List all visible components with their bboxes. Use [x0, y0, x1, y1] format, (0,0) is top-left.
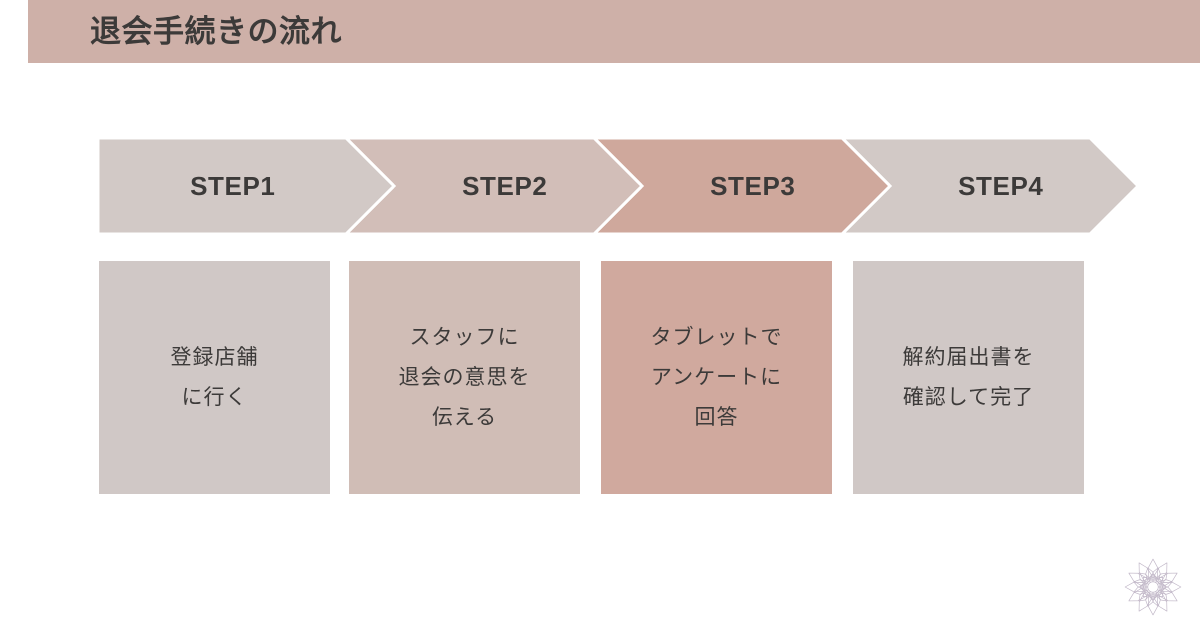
step-description-line: スタッフに — [410, 318, 520, 358]
step-description-line: 伝える — [432, 398, 497, 438]
step-description-line: アンケートに — [651, 358, 782, 398]
step-arrow-label-1: STEP1 — [98, 138, 368, 234]
step-arrow-label-4: STEP4 — [890, 138, 1112, 234]
step-description-line: に行く — [182, 378, 248, 418]
step-description-line: 退会の意思を — [399, 358, 531, 398]
step-arrow-row: STEP1STEP2STEP3STEP4 — [0, 138, 1200, 234]
step-arrow-label-3: STEP3 — [642, 138, 864, 234]
step-description-box-3[interactable]: タブレットでアンケートに回答 — [601, 261, 832, 494]
step-description-box-2[interactable]: スタッフに退会の意思を伝える — [349, 261, 580, 494]
page-title: 退会手続きの流れ — [90, 0, 342, 63]
step-description-line: 解約届出書を — [903, 338, 1035, 378]
step-arrow-1[interactable]: STEP1 — [98, 138, 394, 234]
step-description-line: 確認して完了 — [903, 378, 1034, 418]
step-description-line: 回答 — [695, 398, 739, 438]
lotus-mandala-logo-icon — [1122, 556, 1184, 618]
step-description-box-4[interactable]: 解約届出書を確認して完了 — [853, 261, 1084, 494]
step-description-line: タブレットで — [651, 318, 783, 358]
step-description-box-1[interactable]: 登録店舗に行く — [99, 261, 330, 494]
step-description-row: 登録店舗に行くスタッフに退会の意思を伝えるタブレットでアンケートに回答解約届出書… — [0, 261, 1200, 495]
step-description-line: 登録店舗 — [171, 338, 259, 378]
step-arrow-label-2: STEP2 — [394, 138, 616, 234]
